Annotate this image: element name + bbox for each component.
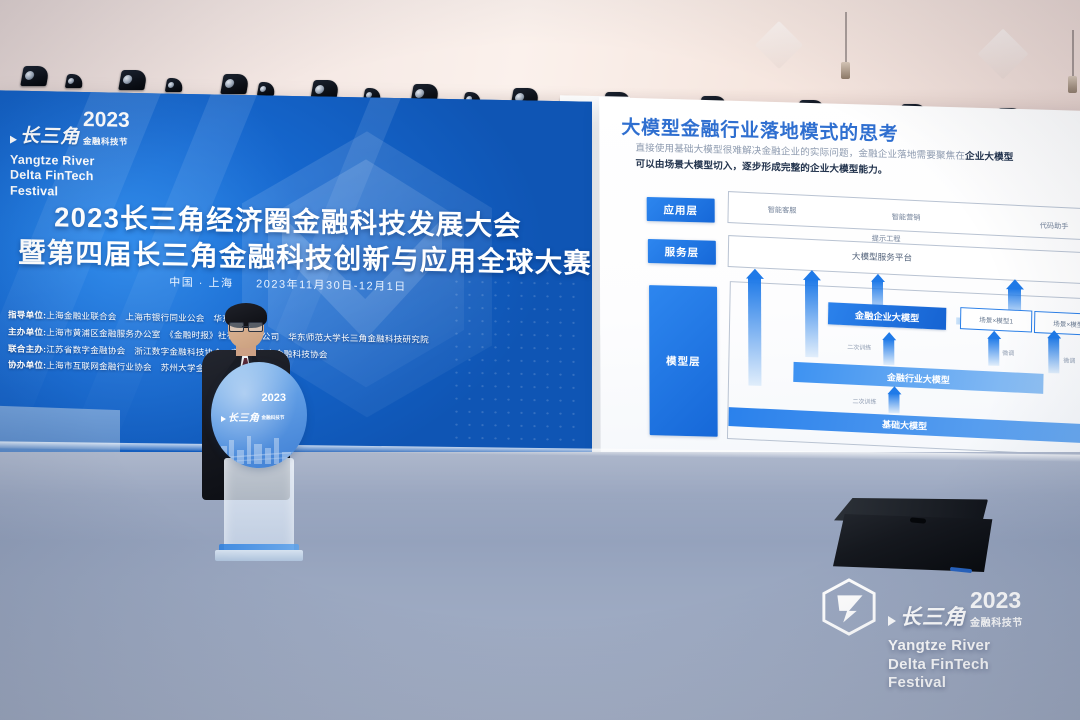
slide-arrow-up: [748, 278, 761, 386]
slide-service-item-platform: 大模型服务平台: [852, 250, 912, 264]
backdrop-date: 2023年11月30日-12月1日: [256, 278, 407, 293]
watermark-text: 长三角 2023 金融科技节 Yangtze River Delta FinTe…: [888, 590, 1073, 693]
slide-app-item-customer-service: 智能客服: [768, 205, 797, 216]
slide-layer-chip-service: 服务层: [648, 239, 716, 265]
watermark-logo: 长三角 2023 金融科技节 Yangtze River Delta FinTe…: [818, 578, 1073, 710]
podium-logo-subtitle: 金融科技节: [262, 415, 285, 420]
logo-arrow-icon: [221, 416, 226, 422]
wall-diamond-panel: [755, 21, 803, 69]
stage-light: [220, 74, 250, 94]
logo-cn-text: 长三角: [20, 121, 80, 149]
brand-mark-icon: [820, 578, 878, 636]
backdrop-location: 中国 · 上海: [169, 277, 233, 290]
watermark-year: 2023: [970, 587, 1021, 613]
slide-arrow-up: [1048, 337, 1059, 373]
podium-logo-cn: 长三角: [228, 409, 260, 424]
slide-app-item-marketing: 智能营销: [892, 212, 921, 223]
watermark-year-subtitle: 金融科技节: [970, 618, 1023, 629]
slide-arrow-up: [888, 393, 899, 413]
watermark-en-line-2: Delta FinTech: [888, 656, 1073, 675]
watermark-en-line-3: Festival: [888, 674, 1073, 693]
podium-logo-year: 2023: [262, 392, 286, 404]
slide-layer-chip-application: 应用层: [647, 197, 715, 223]
slide-arrow-label-retrain: 二次训练: [847, 342, 871, 352]
backdrop-title: 2023长三角经济圈金融科技发展大会 暨第四届长三角金融科技创新与应用全球大赛: [18, 199, 558, 282]
slide-body-line-2: 可以由场景大模型切入，逐步形成完整的企业大模型能力。: [635, 158, 887, 175]
organizer-label: 协办单位:: [8, 360, 46, 371]
slide-arrow-up: [805, 279, 818, 357]
watermark-cn: 长三角: [900, 601, 966, 631]
hanging-cable: [845, 12, 847, 64]
podium: 长三角 2023 金融科技节: [211, 362, 307, 560]
podium-logo-panel: 长三角 2023 金融科技节: [211, 362, 307, 468]
logo-arrow-icon: [888, 616, 896, 626]
organizer-label: 主办单位:: [8, 326, 46, 337]
podium-base: [215, 550, 303, 561]
stage-monitor-speaker: [828, 498, 994, 576]
organizer-label: 联合主办:: [8, 343, 46, 354]
conference-stage-photo: 长三角 2023 金融科技节 Yangtze River Delta FinTe…: [0, 0, 1080, 720]
slide-arrow-up: [883, 339, 894, 365]
logo-year-text: 2023: [83, 108, 130, 132]
organizer-label: 指导单位:: [8, 310, 46, 321]
watermark-en-line-1: Yangtze River: [888, 637, 1073, 656]
hanging-fixture: [841, 62, 850, 79]
slide-layer-chip-model: 模型层: [649, 285, 718, 437]
slide-arrow-label-finetune-2: 微调: [1002, 348, 1014, 357]
slide-arrow-up: [988, 338, 999, 366]
slide-app-item-code-assistant: 代码助手: [1040, 221, 1069, 232]
stage-light: [118, 70, 148, 90]
logo-arrow-icon: [10, 136, 17, 144]
podium-logo: 长三角 2023 金融科技节: [221, 388, 299, 424]
skyline-graphic: [217, 424, 301, 464]
slide-body-text: 直接使用基础大模型很难解决金融企业的实际问题，金融企业落地需要聚焦在企业大模型 …: [635, 141, 1075, 183]
slide-arrow-label-retrain-2: 二次训练: [852, 396, 876, 406]
backdrop-logo: 长三角 2023 金融科技节 Yangtze River Delta FinTe…: [10, 109, 180, 202]
speaker-glasses-icon: [229, 322, 263, 330]
stage-light: [20, 66, 50, 86]
podium-stem: [224, 458, 294, 558]
wall-diamond-panel: [978, 29, 1029, 80]
slide-arrow-label-finetune-3: 微调: [1063, 356, 1075, 365]
slide-service-item-prompt-engineering: 提示工程: [872, 234, 901, 245]
logo-year-subtitle: 金融科技节: [83, 136, 128, 147]
presentation-slide: 大模型金融行业落地模式的思考 直接使用基础大模型很难解决金融企业的实际问题，金融…: [599, 97, 1080, 471]
hanging-cable: [1072, 30, 1074, 78]
slide-body-line-1-strong: 企业大模型: [965, 151, 1014, 163]
monitor-face: [828, 514, 994, 572]
slide-scene-model-box-1: 场景×模型1: [960, 307, 1032, 332]
